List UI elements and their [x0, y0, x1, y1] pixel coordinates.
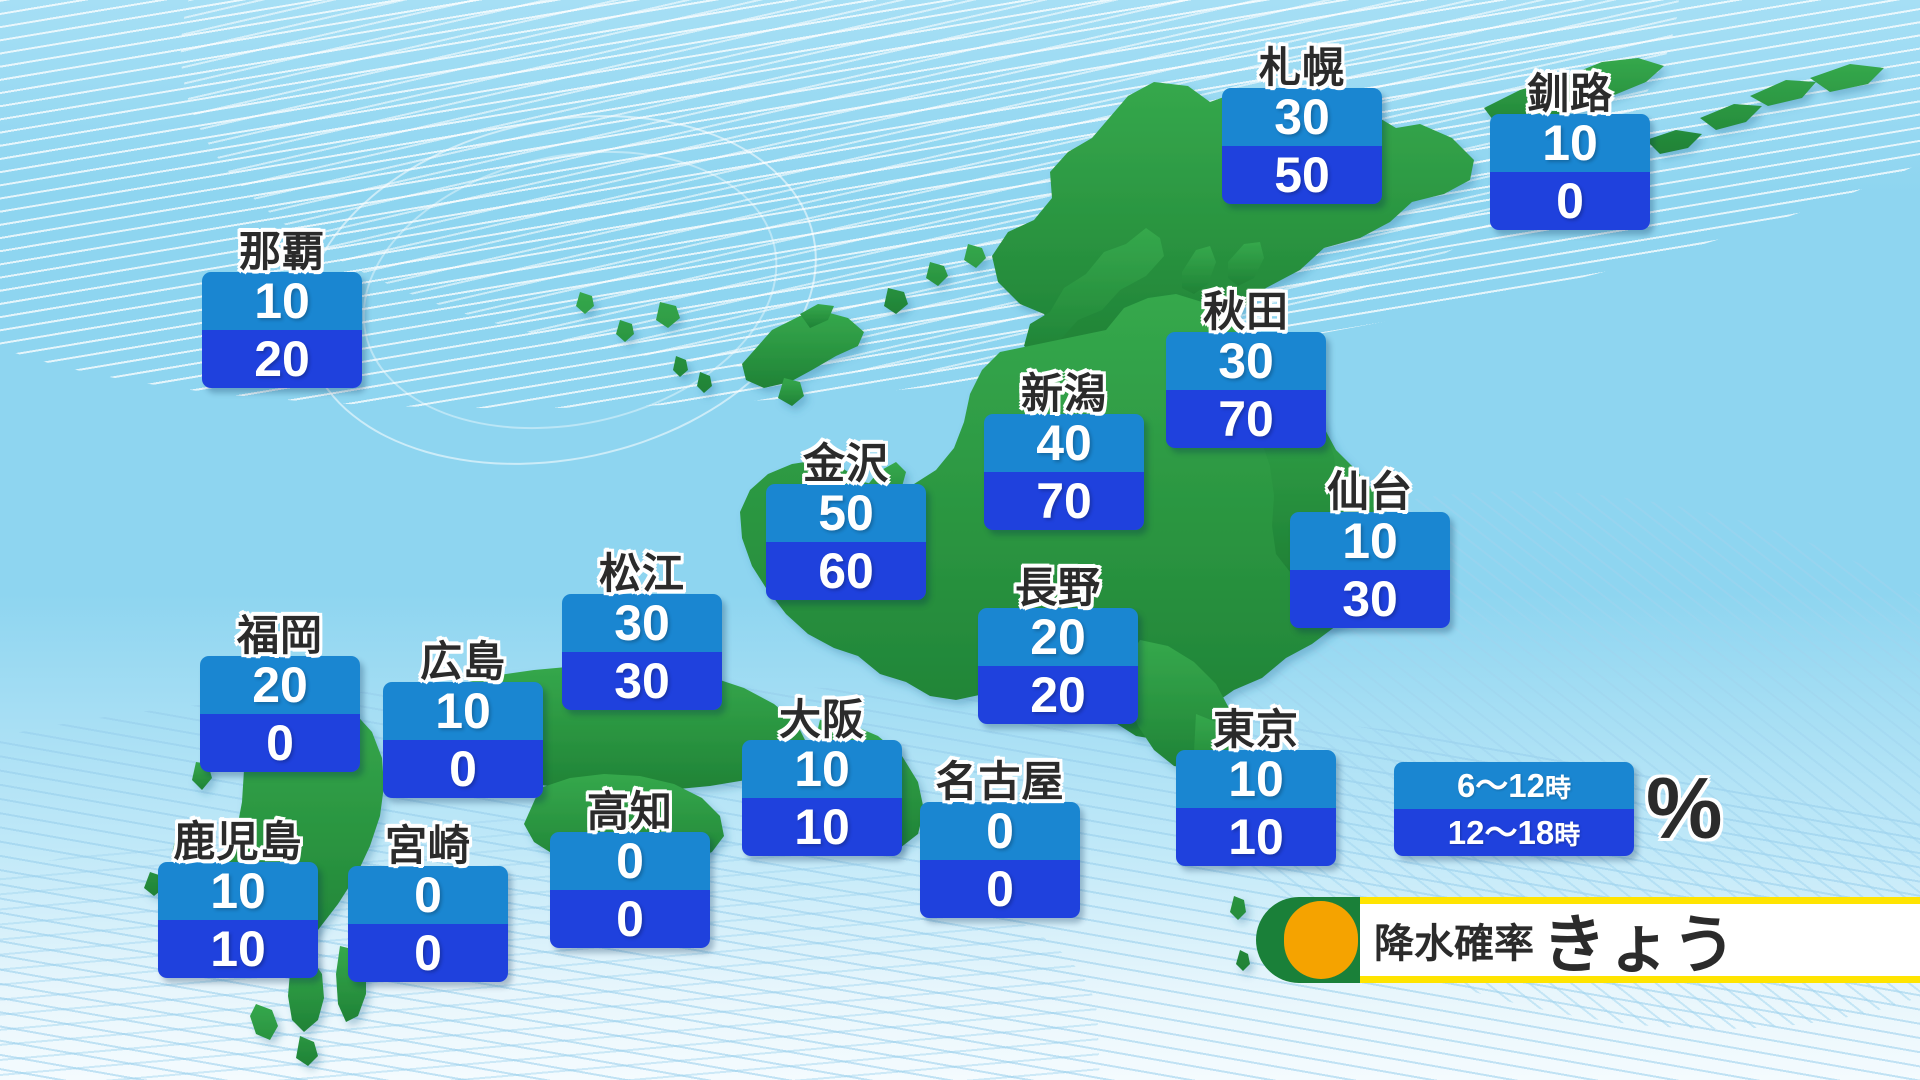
station-fukuoka[interactable]: 福岡 20 0 [200, 614, 360, 772]
station-name-sapporo: 札幌 [1222, 46, 1382, 90]
station-niigata[interactable]: 新潟 40 70 [984, 372, 1144, 530]
title-bar-subtitle: 降水確率 [1374, 911, 1534, 969]
legend-row-morning: 6〜12時 [1394, 762, 1634, 809]
pop-am-tokyo: 10 [1176, 750, 1336, 808]
pop-am-fukuoka: 20 [200, 656, 360, 714]
station-name-nagano: 長野 [978, 566, 1138, 610]
station-name-naha: 那覇 [202, 230, 362, 274]
pop-box-kochi[interactable]: 0 0 [550, 832, 710, 948]
station-nagano[interactable]: 長野 20 20 [978, 566, 1138, 724]
station-naha[interactable]: 那覇 10 20 [202, 230, 362, 388]
pop-pm-kagoshima: 10 [158, 920, 318, 978]
pop-pm-hiroshima: 0 [383, 740, 543, 798]
ryukyu-islets-east [884, 244, 986, 314]
station-name-matsue: 松江 [562, 552, 722, 596]
station-name-sendai: 仙台 [1290, 470, 1450, 514]
station-kochi[interactable]: 高知 0 0 [550, 790, 710, 948]
pop-pm-osaka: 10 [742, 798, 902, 856]
pop-pm-akita: 70 [1166, 390, 1326, 448]
pop-box-matsue[interactable]: 30 30 [562, 594, 722, 710]
pop-am-nagano: 20 [978, 608, 1138, 666]
pop-am-naha: 10 [202, 272, 362, 330]
title-bar-main: きょう [1542, 894, 1737, 986]
pop-am-osaka: 10 [742, 740, 902, 798]
pop-box-sapporo[interactable]: 30 50 [1222, 88, 1382, 204]
pop-box-kanazawa[interactable]: 50 60 [766, 484, 926, 600]
pop-am-miyazaki: 0 [348, 866, 508, 924]
pop-box-niigata[interactable]: 40 70 [984, 414, 1144, 530]
legend-afternoon-unit: 時 [1554, 820, 1580, 850]
pop-pm-sendai: 30 [1290, 570, 1450, 628]
pop-am-sendai: 10 [1290, 512, 1450, 570]
pop-pm-sapporo: 50 [1222, 146, 1382, 204]
pop-pm-fukuoka: 0 [200, 714, 360, 772]
station-matsue[interactable]: 松江 30 30 [562, 552, 722, 710]
station-name-kagoshima: 鹿児島 [158, 820, 318, 864]
station-kanazawa[interactable]: 金沢 50 60 [766, 442, 926, 600]
pop-pm-naha: 20 [202, 330, 362, 388]
pop-box-nagoya[interactable]: 0 0 [920, 802, 1080, 918]
station-sapporo[interactable]: 札幌 30 50 [1222, 46, 1382, 204]
pop-pm-tokyo: 10 [1176, 808, 1336, 866]
pop-am-kushiro: 10 [1490, 114, 1650, 172]
station-kagoshima[interactable]: 鹿児島 10 10 [158, 820, 318, 978]
weather-map-screen: 札幌 30 50 釧路 10 0 秋田 30 70 新潟 40 70 仙台 10… [0, 0, 1920, 1080]
legend-box: 6〜12時 12〜18時 [1394, 762, 1634, 856]
station-name-hiroshima: 広島 [383, 640, 543, 684]
title-bar-cap-icon [1256, 897, 1360, 983]
nemuro-kuril-islets [1646, 64, 1884, 154]
pop-box-tokyo[interactable]: 10 10 [1176, 750, 1336, 866]
pop-pm-matsue: 30 [562, 652, 722, 710]
station-name-tokyo: 東京 [1176, 708, 1336, 752]
pop-am-kanazawa: 50 [766, 484, 926, 542]
pop-pm-kanazawa: 60 [766, 542, 926, 600]
pop-box-sendai[interactable]: 10 30 [1290, 512, 1450, 628]
pop-am-akita: 30 [1166, 332, 1326, 390]
percent-symbol: % [1646, 766, 1722, 852]
station-nagoya[interactable]: 名古屋 0 0 [920, 760, 1080, 918]
pop-am-hiroshima: 10 [383, 682, 543, 740]
pop-pm-niigata: 70 [984, 472, 1144, 530]
okinawa-main-island [742, 312, 864, 388]
pop-am-sapporo: 30 [1222, 88, 1382, 146]
station-tokyo[interactable]: 東京 10 10 [1176, 708, 1336, 866]
pop-box-hiroshima[interactable]: 10 0 [383, 682, 543, 798]
legend-afternoon-range: 12〜18 [1448, 814, 1554, 851]
station-name-kushiro: 釧路 [1490, 72, 1650, 116]
station-sendai[interactable]: 仙台 10 30 [1290, 470, 1450, 628]
station-name-miyazaki: 宮崎 [348, 824, 508, 868]
pop-am-kagoshima: 10 [158, 862, 318, 920]
station-name-niigata: 新潟 [984, 372, 1144, 416]
station-name-akita: 秋田 [1166, 290, 1326, 334]
station-hiroshima[interactable]: 広島 10 0 [383, 640, 543, 798]
pop-am-kochi: 0 [550, 832, 710, 890]
station-akita[interactable]: 秋田 30 70 [1166, 290, 1326, 448]
pop-box-kushiro[interactable]: 10 0 [1490, 114, 1650, 230]
station-name-nagoya: 名古屋 [920, 760, 1080, 804]
pop-am-niigata: 40 [984, 414, 1144, 472]
pop-pm-nagano: 20 [978, 666, 1138, 724]
pop-box-nagano[interactable]: 20 20 [978, 608, 1138, 724]
pop-box-akita[interactable]: 30 70 [1166, 332, 1326, 448]
station-osaka[interactable]: 大阪 10 10 [742, 698, 902, 856]
pop-pm-kochi: 0 [550, 890, 710, 948]
station-miyazaki[interactable]: 宮崎 0 0 [348, 824, 508, 982]
station-name-fukuoka: 福岡 [200, 614, 360, 658]
pop-pm-nagoya: 0 [920, 860, 1080, 918]
pop-box-osaka[interactable]: 10 10 [742, 740, 902, 856]
legend-morning-unit: 時 [1545, 773, 1571, 803]
pop-box-naha[interactable]: 10 20 [202, 272, 362, 388]
station-name-kanazawa: 金沢 [766, 442, 926, 486]
pop-box-fukuoka[interactable]: 20 0 [200, 656, 360, 772]
station-name-kochi: 高知 [550, 790, 710, 834]
pop-pm-miyazaki: 0 [348, 924, 508, 982]
pop-box-kagoshima[interactable]: 10 10 [158, 862, 318, 978]
pop-am-nagoya: 0 [920, 802, 1080, 860]
ryukyu-islets-west [576, 292, 712, 393]
legend: 6〜12時 12〜18時 % [1394, 762, 1722, 856]
station-name-osaka: 大阪 [742, 698, 902, 742]
pop-pm-kushiro: 0 [1490, 172, 1650, 230]
station-kushiro[interactable]: 釧路 10 0 [1490, 72, 1650, 230]
legend-row-afternoon: 12〜18時 [1394, 809, 1634, 856]
title-bar-body: 降水確率 きょう [1360, 897, 1920, 983]
pop-box-miyazaki[interactable]: 0 0 [348, 866, 508, 982]
title-bar: 降水確率 きょう [1256, 897, 1920, 983]
legend-morning-range: 6〜12 [1457, 767, 1545, 804]
pop-am-matsue: 30 [562, 594, 722, 652]
